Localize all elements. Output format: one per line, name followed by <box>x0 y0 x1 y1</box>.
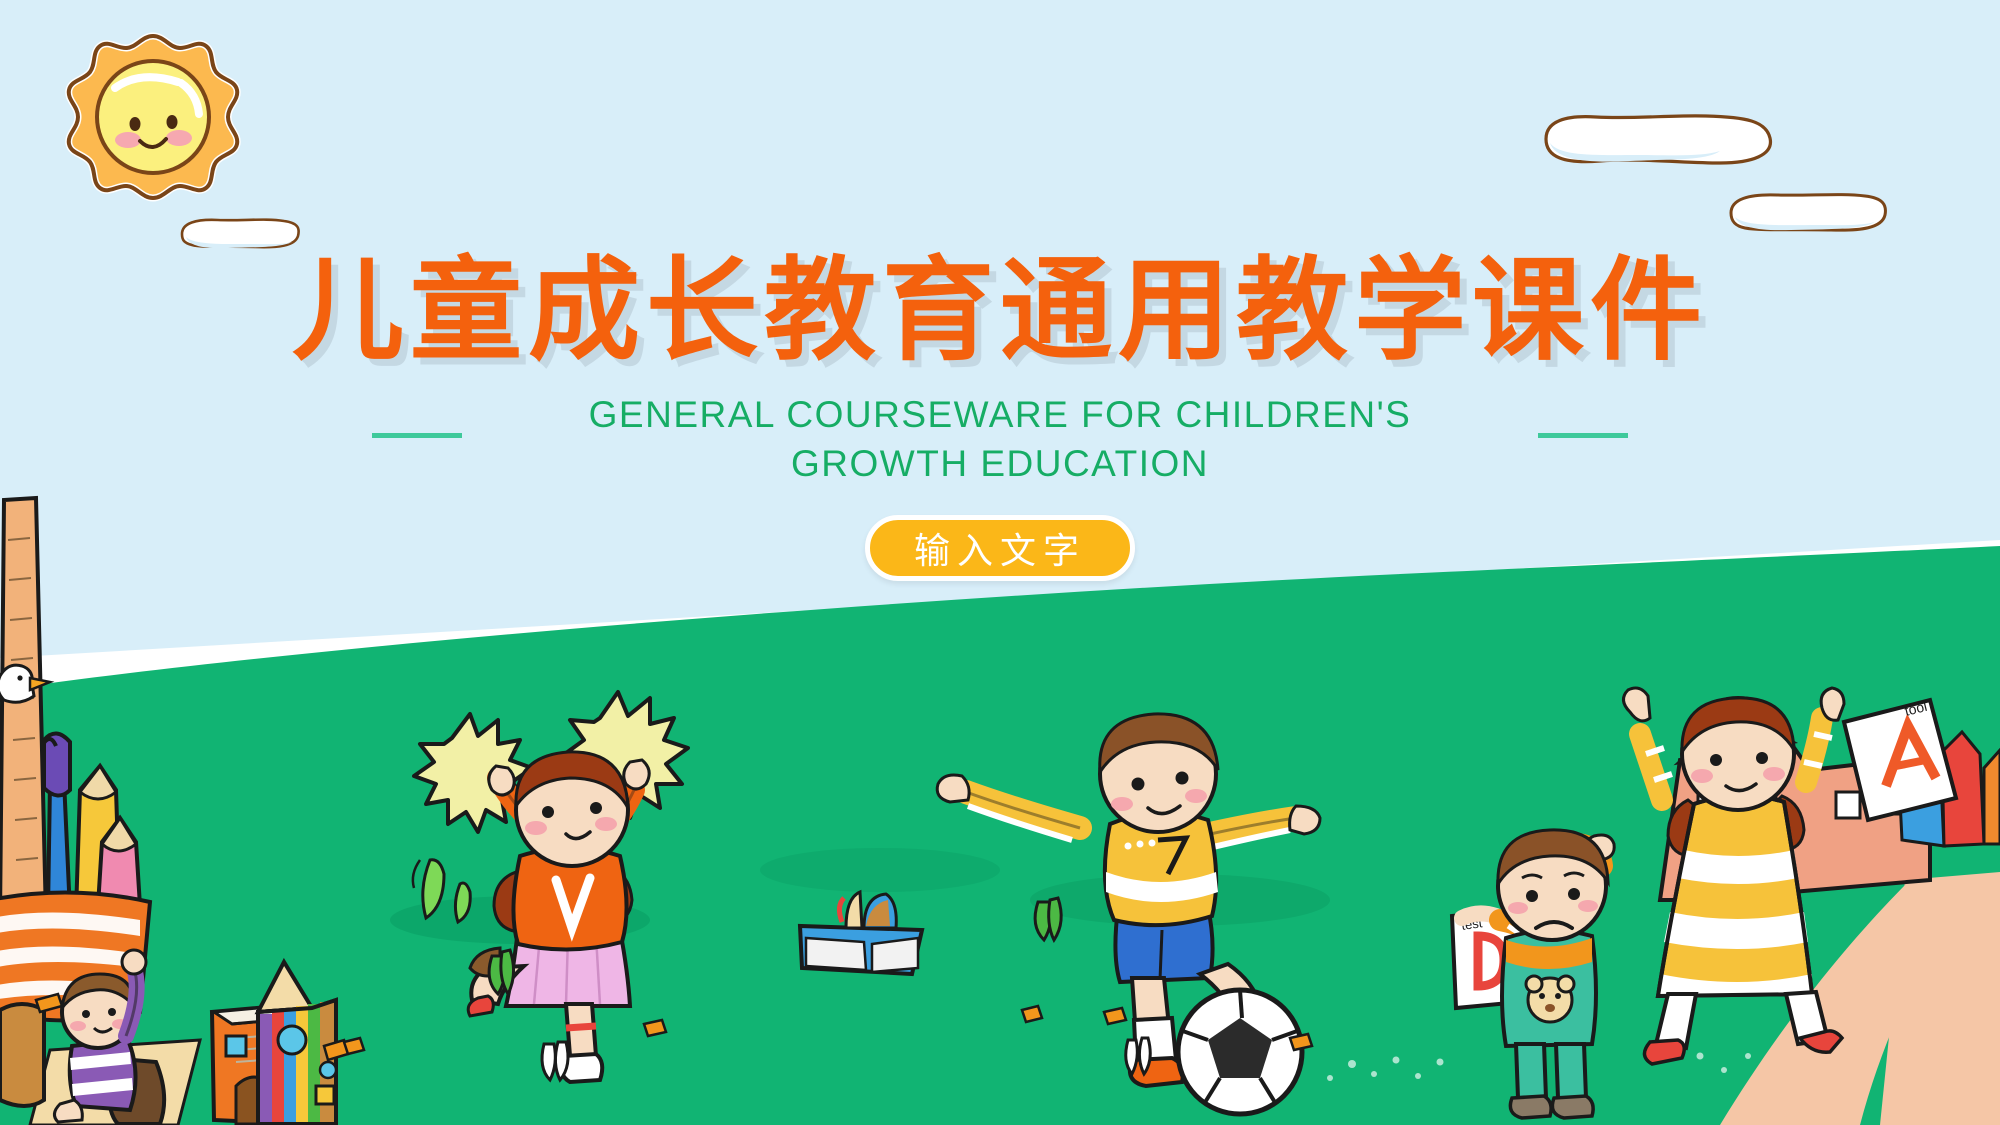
ground-layer <box>0 540 2000 1125</box>
deco-line-left-icon <box>372 433 462 438</box>
cloud-icon-large <box>1520 105 1800 175</box>
slide-canvas: test <box>0 0 2000 1125</box>
input-text-button[interactable]: 输入文字 <box>865 515 1135 581</box>
page-title: 儿童成长教育通用教学课件 <box>0 248 2000 373</box>
subtitle-row: GENERAL COURSEWARE FOR CHILDREN'S GROWTH… <box>0 391 2000 489</box>
title-block: 儿童成长教育通用教学课件 GENERAL COURSEWARE FOR CHIL… <box>0 248 2000 581</box>
cloud-icon-small <box>1715 185 1895 237</box>
page-subtitle: GENERAL COURSEWARE FOR CHILDREN'S GROWTH… <box>500 391 1500 489</box>
deco-line-right-icon <box>1538 433 1628 438</box>
cta-wrap: 输入文字 <box>0 515 2000 581</box>
sun-icon <box>58 28 248 208</box>
